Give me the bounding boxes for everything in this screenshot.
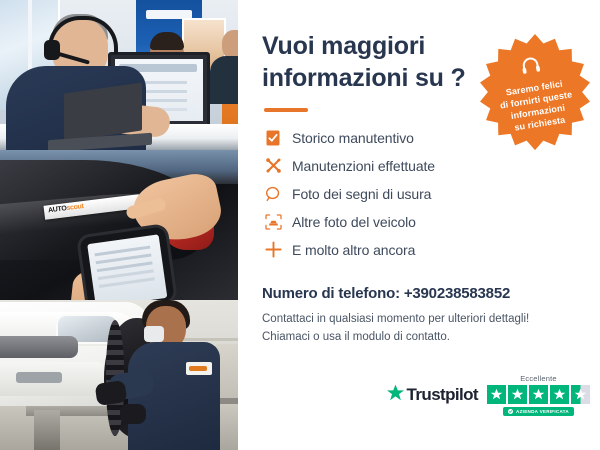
list-item: Altre foto del veicolo xyxy=(262,208,582,235)
trustpilot-wordmark: Trustpilot xyxy=(407,385,478,405)
check-circle-icon xyxy=(508,409,513,414)
feature-label: Manutenzioni effettuate xyxy=(292,158,435,174)
feature-label: Altre foto del veicolo xyxy=(292,214,416,230)
call-center-agent-photo xyxy=(0,0,238,150)
rating-star xyxy=(550,385,569,404)
list-item: E molto altro ancora xyxy=(262,236,582,263)
trustpilot-rating-label: Eccellente xyxy=(520,374,557,383)
verified-company-badge: AZIENDA VERIFICATA xyxy=(503,407,574,416)
list-item: Manutenzioni effettuate xyxy=(262,152,582,179)
trustpilot-star-icon xyxy=(386,384,405,407)
feature-label: E molto altro ancora xyxy=(292,242,415,258)
plus-icon xyxy=(262,241,284,258)
trustpilot-logo: Trustpilot xyxy=(386,384,478,407)
rating-star xyxy=(529,385,548,404)
photo-column: AUTOscout xyxy=(0,0,238,450)
phone-number-line: Numero di telefono: +390238583852 xyxy=(262,285,582,302)
clipboard-check-icon xyxy=(262,130,284,146)
contact-line-1: Contattaci in qualsiasi momento per ulte… xyxy=(262,313,529,325)
feature-label: Storico manutentivo xyxy=(292,130,414,146)
feature-label: Foto dei segni di usura xyxy=(292,186,431,202)
rating-star xyxy=(487,385,506,404)
content-panel: Vuoi maggiori informazioni su ? Saremo f… xyxy=(238,0,600,450)
vehicle-inspection-ruler-photo: AUTOscout xyxy=(0,150,238,300)
trustpilot-star-rating xyxy=(487,385,590,404)
mechanic-tire-check-photo xyxy=(0,300,238,450)
page-title: Vuoi maggiori informazioni su ? xyxy=(262,30,472,94)
car-frame-icon xyxy=(262,214,284,230)
title-divider xyxy=(264,108,308,112)
crossed-tools-icon xyxy=(262,157,284,174)
advertisement-panel: AUTOscout xyxy=(0,0,600,450)
headline-line-2: informazioni su ? xyxy=(262,64,466,92)
trustpilot-widget[interactable]: Trustpilot Eccellente xyxy=(386,374,590,416)
headline-line-1: Vuoi maggiori xyxy=(262,32,425,60)
list-item: Foto dei segni di usura xyxy=(262,180,582,207)
contact-description: Contattaci in qualsiasi momento per ulte… xyxy=(262,311,582,347)
contact-line-2: Chiamaci o usa il modulo di contatto. xyxy=(262,331,450,343)
rating-star xyxy=(508,385,527,404)
rating-star-half xyxy=(571,385,590,404)
magnifier-icon xyxy=(262,186,284,202)
verified-label: AZIENDA VERIFICATA xyxy=(516,409,569,414)
availability-badge: Saremo felici di fornirti queste informa… xyxy=(476,34,594,152)
